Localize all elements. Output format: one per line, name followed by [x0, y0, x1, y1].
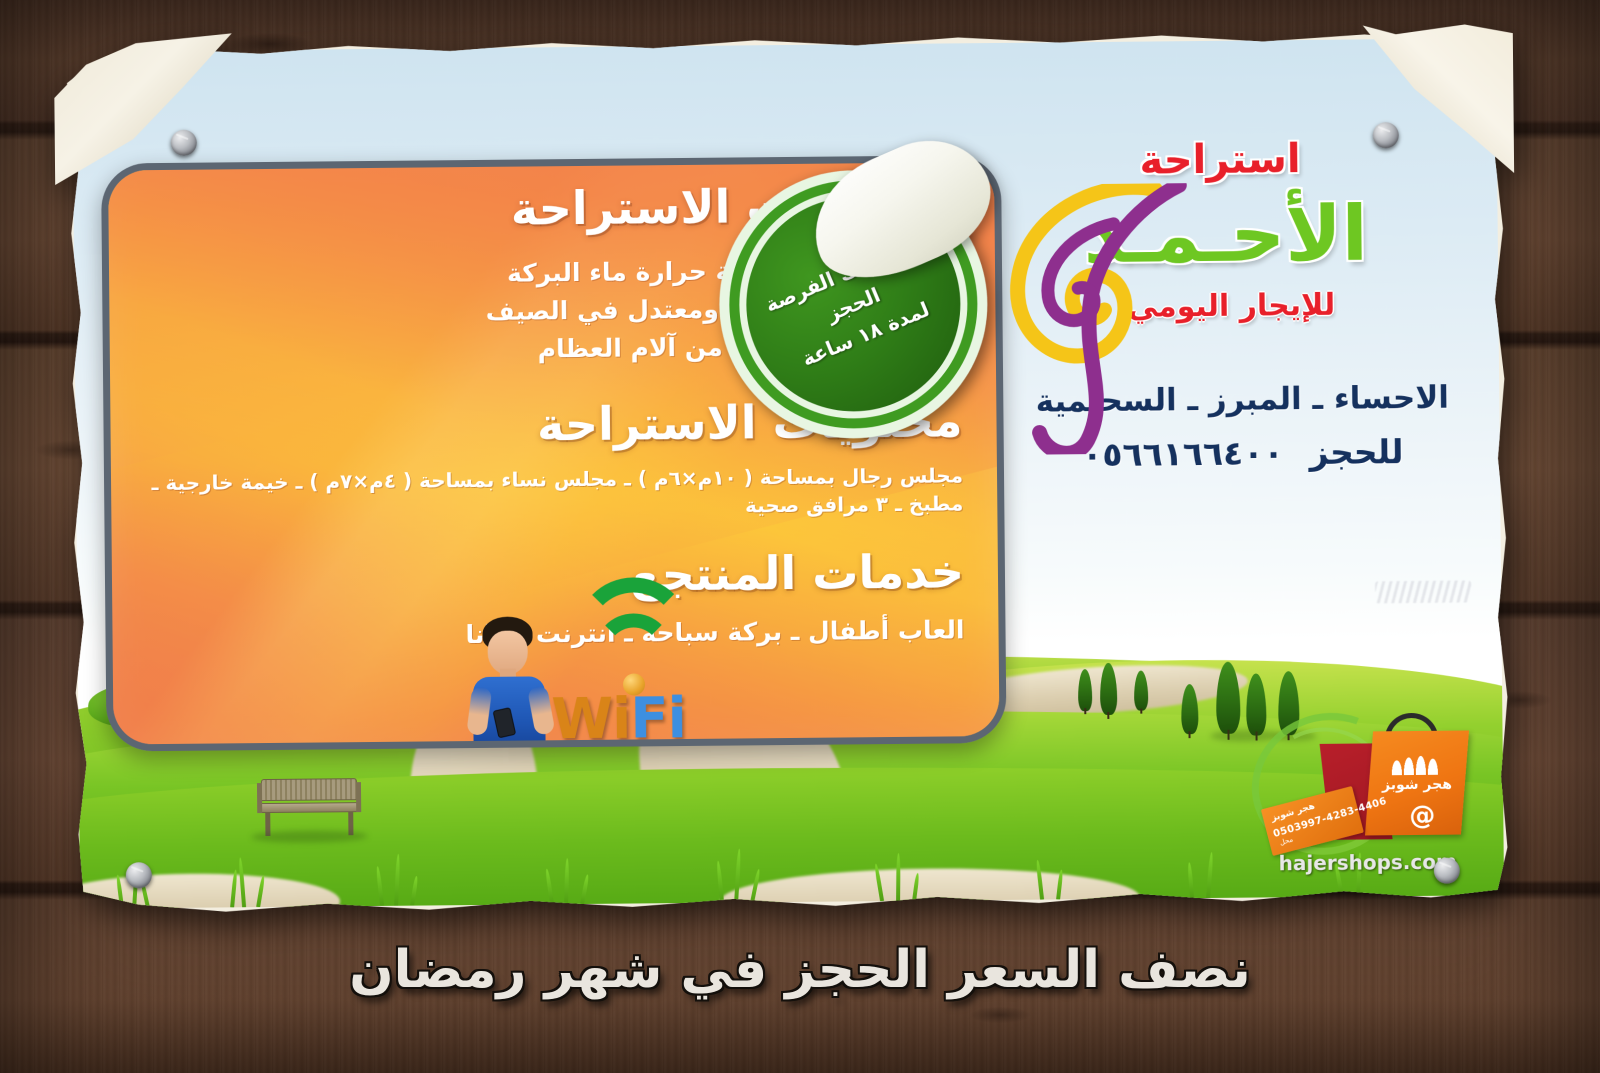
- faint-watermark-smudge: [1375, 580, 1471, 603]
- cypress-tree: [1181, 684, 1198, 734]
- pin-top-right: [1373, 122, 1399, 148]
- bag-fan-icon: [1389, 745, 1445, 776]
- park-bench: [257, 778, 362, 837]
- cypress-tree: [1078, 669, 1092, 711]
- poster-inner: مواصفات الاستراحة الصفة المميزة درجة حرا…: [72, 38, 1504, 909]
- pin-bottom-left: [126, 862, 152, 888]
- wifi-graphic: WiFi: [464, 607, 705, 749]
- poster: مواصفات الاستراحة الصفة المميزة درجة حرا…: [58, 25, 1518, 923]
- cypress-tree: [1216, 662, 1241, 734]
- wifi-wi-text: Wi: [551, 687, 631, 752]
- bottom-promo-text: نصف السعر الحجز في شهر رمضان: [0, 940, 1600, 1000]
- services-heading: خدمات المنتجع: [146, 543, 965, 608]
- brand-block: استراحة الأحـمـد للإيجار اليومي الاحساء …: [1005, 134, 1478, 474]
- watermark-brand-ar: هجر شوبز: [1375, 777, 1459, 794]
- hajershops-watermark: هجر شوبز @ هجر شوبز 0503997-4283-4406 مح…: [1248, 706, 1480, 873]
- pin-bottom-right: [1434, 858, 1460, 884]
- wifi-fi-text: Fi: [630, 686, 686, 752]
- poster-paper: مواصفات الاستراحة الصفة المميزة درجة حرا…: [58, 25, 1518, 923]
- wifi-wordmark: WiFi: [551, 686, 686, 752]
- decorative-swirl-logo: [1003, 183, 1206, 455]
- contents-line: مجلس رجال بمساحة ( ١٠م×٦م ) ـ مجلس نساء …: [145, 461, 963, 525]
- cypress-tree: [1134, 671, 1148, 711]
- pin-top-left: [171, 130, 197, 156]
- at-symbol-icon: @: [1409, 801, 1435, 831]
- cypress-tree: [1100, 663, 1117, 715]
- boy-with-phone-illustration: [466, 616, 553, 749]
- booking-label: للحجز: [1309, 432, 1403, 472]
- brand-title-top: استراحة: [1005, 135, 1435, 185]
- wifi-signal-icon: [574, 621, 693, 694]
